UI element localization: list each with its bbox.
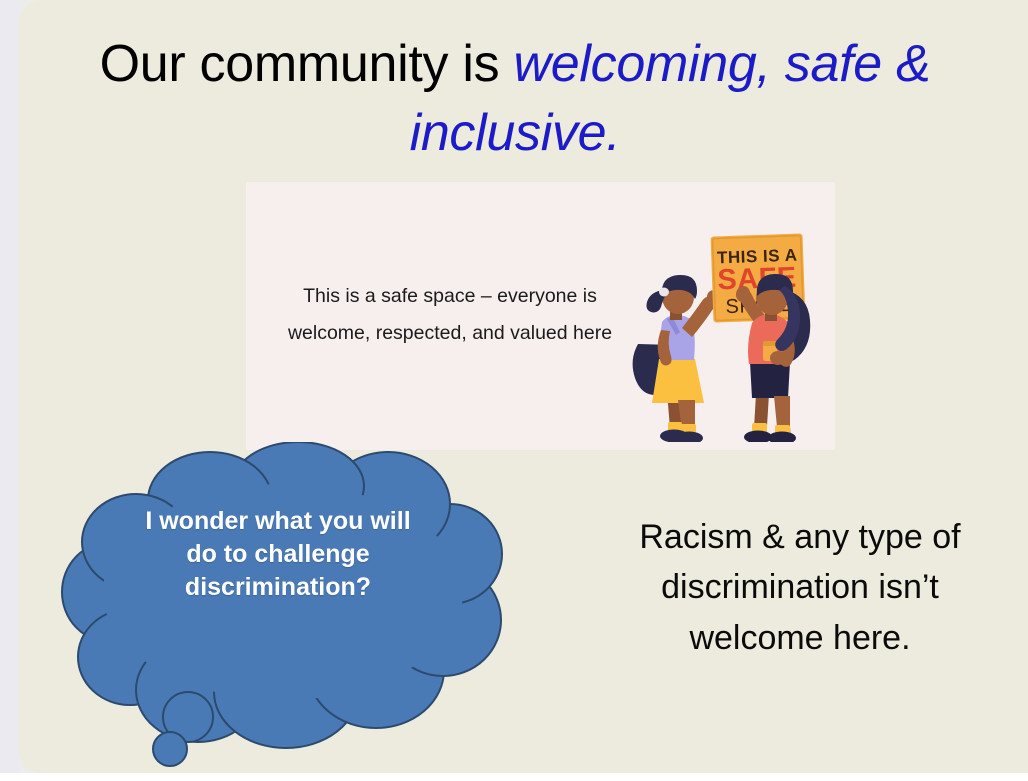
thought-bubble-text: I wonder what you will do to challenge d… (128, 505, 428, 604)
thought-bubble: I wonder what you will do to challenge d… (58, 442, 518, 772)
safe-space-illustration: THIS IS A SAFE SPACE (626, 224, 826, 442)
statement-text: Racism & any type of discrimination isn’… (590, 512, 1010, 663)
safe-space-caption: This is a safe space – everyone is welco… (260, 278, 640, 353)
slide-root: Our community is welcoming, safe & inclu… (0, 0, 1028, 781)
slide-title: Our community is welcoming, safe & inclu… (60, 30, 970, 168)
title-plain-text: Our community is (100, 35, 514, 93)
slide-bottom-margin (0, 773, 1028, 781)
safe-space-image-panel: This is a safe space – everyone is welco… (246, 182, 835, 450)
left-gutter-strip (0, 0, 19, 781)
left-figure-group (633, 275, 724, 442)
right-figure-group (734, 274, 810, 442)
